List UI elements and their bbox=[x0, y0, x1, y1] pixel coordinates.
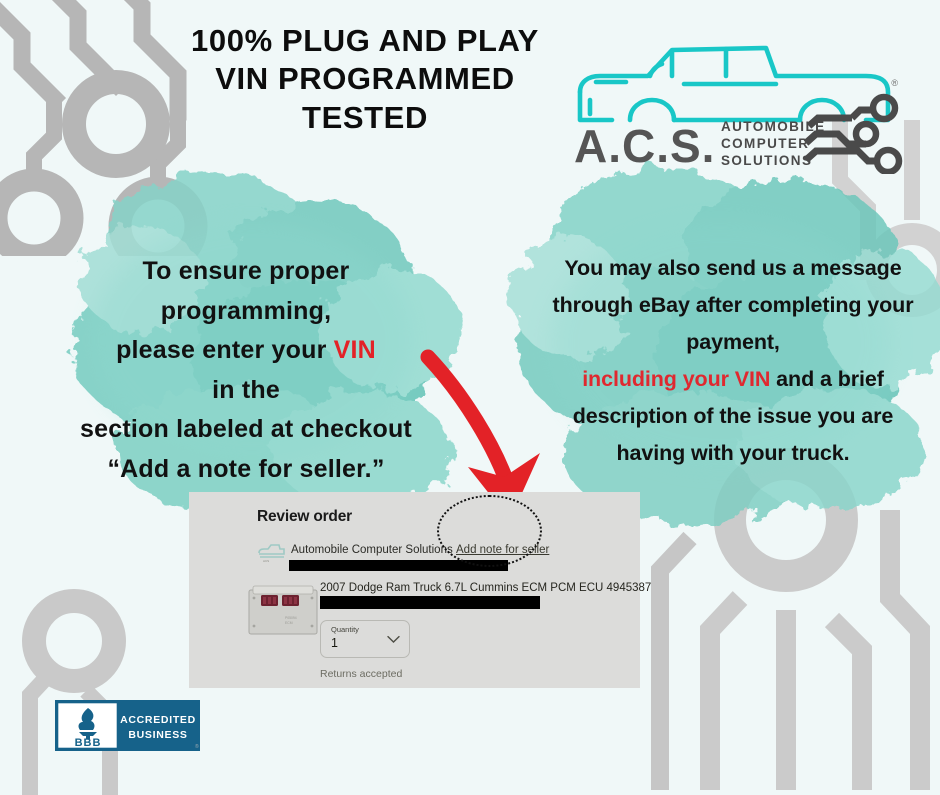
bbb-line-1: ACCREDITED bbox=[120, 714, 196, 726]
bbb-registered-mark: ® bbox=[195, 743, 199, 750]
headline-line-2: VIN PROGRAMMED bbox=[120, 60, 610, 98]
right-line-4: including your VIN and a brief bbox=[542, 361, 924, 398]
circuit-trace-bottom-left bbox=[0, 545, 190, 795]
left-instruction-text: To ensure proper programming, please ent… bbox=[36, 252, 456, 489]
seller-name: Automobile Computer Solutions bbox=[291, 544, 453, 556]
review-order-title: Review order bbox=[257, 508, 352, 526]
quantity-value: 1 bbox=[331, 636, 338, 650]
left-line-6: “Add a note for seller.” bbox=[36, 450, 456, 490]
right-line-1: You may also send us a message bbox=[542, 250, 924, 287]
add-note-for-seller-link[interactable]: Add note for seller bbox=[456, 544, 549, 556]
returns-accepted-text: Returns accepted bbox=[320, 668, 402, 680]
svg-text:P05094: P05094 bbox=[285, 616, 297, 620]
redaction-bar-price bbox=[320, 596, 540, 609]
logo-word-computer: COMPUTER bbox=[721, 136, 809, 151]
seller-row: ACS Automobile Computer Solutions Add no… bbox=[257, 542, 637, 570]
bbb-accredited-business-badge: BBB ACCREDITED BUSINESS ® bbox=[55, 700, 200, 751]
right-line-3: payment, bbox=[542, 324, 924, 361]
logo-circuit-icon bbox=[806, 110, 878, 161]
left-line-5: section labeled at checkout bbox=[36, 410, 456, 450]
bbb-line-2: BUSINESS bbox=[128, 729, 187, 741]
headline: 100% PLUG AND PLAY VIN PROGRAMMED TESTED bbox=[120, 22, 610, 137]
pickup-truck-outline-icon bbox=[580, 48, 888, 120]
left-line-2: programming, bbox=[36, 292, 456, 332]
right-instruction-text: You may also send us a message through e… bbox=[542, 250, 924, 472]
right-line-5: description of the issue you are bbox=[542, 398, 924, 435]
seller-logo-icon: ACS bbox=[257, 540, 287, 564]
right-line-2: through eBay after completing your bbox=[542, 287, 924, 324]
ecm-product-thumbnail[interactable]: P05094ECM bbox=[245, 584, 321, 640]
redaction-bar-seller bbox=[289, 560, 508, 571]
left-line-3: please enter your VIN bbox=[36, 331, 456, 371]
right-line-6: having with your truck. bbox=[542, 435, 924, 472]
item-title[interactable]: 2007 Dodge Ram Truck 6.7L Cummins ECM PC… bbox=[320, 582, 651, 594]
quantity-select[interactable]: Quantity 1 bbox=[320, 620, 410, 658]
headline-line-1: 100% PLUG AND PLAY bbox=[120, 22, 610, 60]
right-line-4-post: and a brief bbox=[770, 367, 884, 391]
quantity-label: Quantity bbox=[331, 625, 359, 634]
bbb-acronym: BBB bbox=[75, 737, 102, 749]
chevron-down-icon bbox=[387, 635, 400, 644]
logo-initials: A.C.S. bbox=[574, 120, 715, 172]
svg-text:ECM: ECM bbox=[285, 621, 293, 625]
left-vin-highlight: VIN bbox=[334, 336, 376, 364]
left-line-1: To ensure proper bbox=[36, 252, 456, 292]
registered-mark-icon: ® bbox=[891, 78, 898, 88]
acs-logo: A.C.S. AUTOMOBILE COMPUTER SOLUTIONS ® bbox=[566, 34, 906, 174]
right-vin-highlight: including your VIN bbox=[582, 367, 770, 391]
left-line-4: in the bbox=[36, 371, 456, 411]
headline-line-3: TESTED bbox=[120, 99, 610, 137]
svg-text:ACS: ACS bbox=[263, 559, 269, 563]
review-order-panel: Review order ACS Automobile Computer Sol… bbox=[189, 492, 640, 688]
logo-word-solutions: SOLUTIONS bbox=[721, 153, 812, 168]
left-line-3-pre: please enter your bbox=[116, 336, 334, 364]
